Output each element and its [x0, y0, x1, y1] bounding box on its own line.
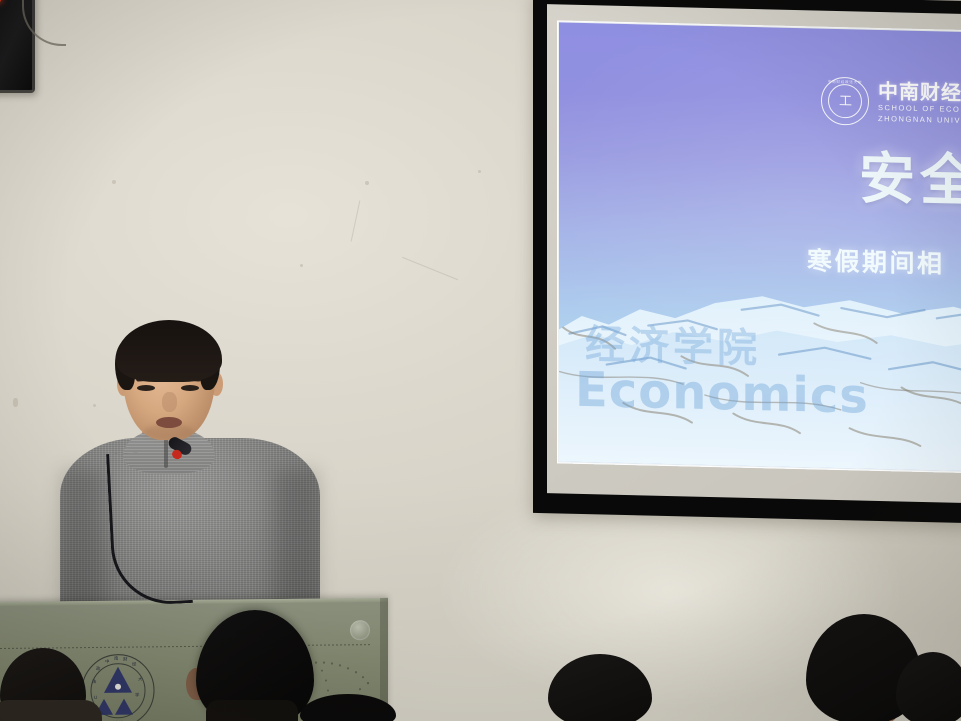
shoulder-shadow-right [274, 470, 318, 610]
slide-title: 安全 [859, 151, 961, 210]
podium-panel-seam [0, 644, 372, 649]
svg-text:政: 政 [96, 665, 101, 672]
wall-blemish [365, 181, 369, 185]
speaker-nose [162, 392, 177, 412]
svg-text:经: 经 [132, 661, 137, 668]
wall-blemish [478, 170, 481, 173]
wall-blemish [112, 180, 116, 184]
wall-blemish [13, 398, 18, 407]
university-name-english: ZHONGNAN UNIVERSITY [878, 113, 961, 127]
university-name-chinese: 中南财经政法大学 [878, 81, 961, 106]
speaker-eye-right [181, 385, 199, 391]
speaker-mouth [156, 417, 182, 428]
slide-watermark-english: Economics [575, 362, 869, 425]
podium-badge-icon [350, 620, 370, 640]
svg-text:中: 中 [105, 658, 109, 665]
university-crest-icon: 中南财经政法大学 工 [821, 77, 869, 126]
svg-text:大: 大 [138, 675, 143, 682]
audience-shoulders [0, 700, 102, 721]
svg-text:法: 法 [92, 678, 97, 685]
university-logo: 中南财经政法大学 工 中南财经政法大学 SCHOOL OF ECONOMICS … [821, 77, 961, 130]
shoulder-shadow-left [62, 470, 106, 610]
speaker-hair [116, 320, 222, 382]
lecture-hall-scene: 经济学院 Economics 中南财经政法大学 工 中南财经政法大学 SCHOO… [0, 0, 961, 721]
power-led-icon [0, 0, 1, 2]
crest-glyph: 工 [832, 88, 858, 115]
audience-shoulders [206, 700, 298, 721]
wall-blemish [300, 264, 303, 267]
svg-text:财: 财 [123, 656, 128, 663]
speaker-eye-left [137, 385, 155, 391]
university-logo-text: 中南财经政法大学 SCHOOL OF ECONOMICS ZHONGNAN UN… [878, 81, 961, 128]
svg-text:U: U [94, 695, 97, 701]
slide-subtitle: 寒假期间相 [807, 241, 945, 280]
svg-text:南: 南 [114, 655, 119, 662]
svg-text:学: 学 [135, 692, 140, 699]
projection-screen-frame: 经济学院 Economics 中南财经政法大学 工 中南财经政法大学 SCHOO… [533, 0, 961, 523]
presentation-slide[interactable]: 经济学院 Economics 中南财经政法大学 工 中南财经政法大学 SCHOO… [559, 22, 961, 471]
